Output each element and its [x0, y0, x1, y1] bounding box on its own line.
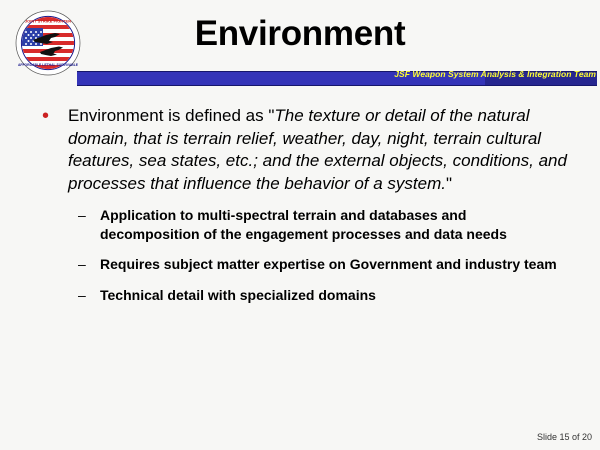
- dash-marker-icon: –: [78, 206, 100, 243]
- main-bullet-item: • Environment is defined as "The texture…: [0, 105, 600, 195]
- main-bullet-trail: ": [446, 174, 452, 193]
- sub-bullet-list: – Application to multi-spectral terrain …: [0, 206, 600, 304]
- slide-number-footer: Slide 15 of 20: [537, 432, 592, 442]
- sub-bullet-text: Technical detail with specialized domain…: [100, 286, 560, 305]
- bullet-dot-icon: •: [42, 105, 68, 195]
- slide-body: • Environment is defined as "The texture…: [0, 105, 600, 316]
- main-bullet-text: Environment is defined as "The texture o…: [68, 105, 572, 195]
- slide-title: Environment: [0, 14, 600, 54]
- dash-marker-icon: –: [78, 286, 100, 305]
- main-bullet-lead: Environment is defined as ": [68, 106, 274, 125]
- sub-bullet-text: Application to multi-spectral terrain an…: [100, 206, 560, 243]
- banner-label: JSF Weapon System Analysis & Integration…: [394, 69, 596, 79]
- svg-text:AFFORDABLE LETHAL SURVIVABLE: AFFORDABLE LETHAL SURVIVABLE: [18, 63, 79, 67]
- list-item: – Requires subject matter expertise on G…: [78, 255, 560, 274]
- sub-bullet-text: Requires subject matter expertise on Gov…: [100, 255, 560, 274]
- presentation-slide: JOINT STRIKE FIGHTER AFFORDABLE LETHAL S…: [0, 0, 600, 450]
- list-item: – Technical detail with specialized doma…: [78, 286, 560, 305]
- dash-marker-icon: –: [78, 255, 100, 274]
- list-item: – Application to multi-spectral terrain …: [78, 206, 560, 243]
